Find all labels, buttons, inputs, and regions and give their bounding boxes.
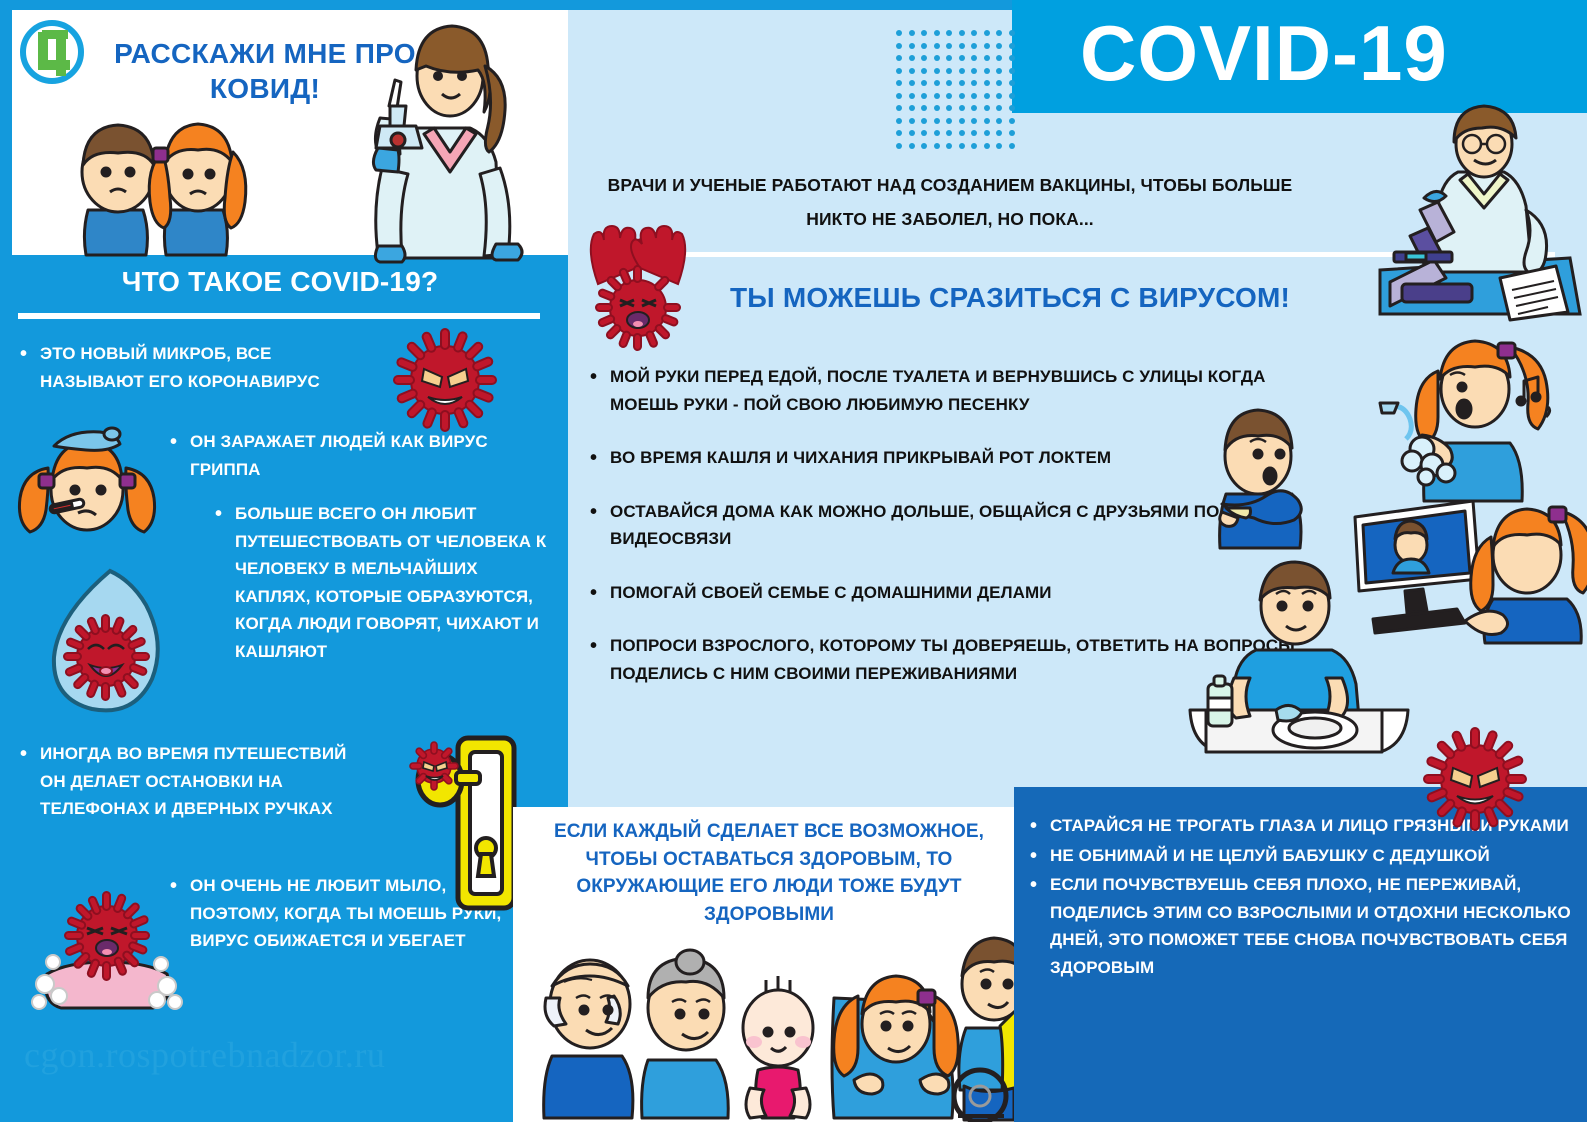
evil-virus-icon	[1418, 722, 1533, 837]
what-is-bullet-3-list: БОЛЬШЕ ВСЕГО ОН ЛЮБИТ ПУТЕШЕСТВОВАТЬ ОТ …	[213, 500, 553, 665]
what-is-bullet-4-list: ИНОГДА ВО ВРЕМЯ ПУТЕШЕСТВИЙ ОН ДЕЛАЕТ ОС…	[18, 740, 348, 823]
female-doctor-flask-icon	[350, 18, 560, 258]
girl-washing-hands-icon	[1370, 325, 1570, 505]
watermark: cgon.rospotrebnadzor.ru	[24, 1034, 494, 1076]
scientist-microscope-icon	[1380, 102, 1580, 317]
list-item: ИНОГДА ВО ВРЕМЯ ПУТЕШЕСТВИЙ ОН ДЕЛАЕТ ОС…	[18, 740, 348, 823]
family-group-icon	[528, 920, 1018, 1120]
list-item: БОЛЬШЕ ВСЕГО ОН ЛЮБИТ ПУТЕШЕСТВОВАТЬ ОТ …	[213, 500, 553, 665]
section-heading-fight-virus: ТЫ МОЖЕШЬ СРАЗИТЬСЯ С ВИРУСОМ!	[660, 282, 1360, 314]
virus-droplet-icon	[42, 565, 172, 715]
virus-soap-icon	[25, 878, 190, 1023]
what-is-bullet-2-list: ОН ЗАРАЖАЕТ ЛЮДЕЙ КАК ВИРУС ГРИППА	[168, 428, 548, 483]
covid-title: COVID-19	[1080, 14, 1580, 92]
sick-girl-thermometer-icon	[12, 418, 162, 553]
virus-cheering-icon	[578, 222, 698, 352]
list-item: ЭТО НОВЫЙ МИКРОБ, ВСЕ НАЗЫВАЮТ ЕГО КОРОН…	[18, 340, 348, 395]
angry-virus-icon	[390, 325, 500, 435]
list-item: НЕ ОБНИМАЙ И НЕ ЦЕЛУЙ БАБУШКУ С ДЕДУШКОЙ	[1028, 842, 1578, 870]
divider-rule	[18, 313, 540, 319]
section-heading-what-is-covid: ЧТО ТАКОЕ COVID-19?	[20, 266, 540, 298]
vaccine-lead-text: ВРАЧИ И УЧЕНЫЕ РАБОТАЮТ НАД СОЗДАНИЕМ ВА…	[600, 168, 1300, 236]
everyone-healthy-text: ЕСЛИ КАЖДЫЙ СДЕЛАЕТ ВСЕ ВОЗМОЖНОЕ, ЧТОБЫ…	[526, 818, 1012, 928]
dont-do-list: СТАРАЙСЯ НЕ ТРОГАТЬ ГЛАЗА И ЛИЦО ГРЯЗНЫМ…	[1028, 812, 1578, 983]
dot-pattern-decoration	[896, 30, 1018, 152]
boy-cough-elbow-icon	[1200, 408, 1330, 548]
list-item: ЕСЛИ ПОЧУВСТВУЕШЬ СЕБЯ ПЛОХО, НЕ ПЕРЕЖИВ…	[1028, 871, 1578, 981]
two-children-icon	[70, 110, 260, 255]
boy-washing-dishes-icon	[1180, 560, 1410, 775]
what-is-bullet-1-list: ЭТО НОВЫЙ МИКРОБ, ВСЕ НАЗЫВАЮТ ЕГО КОРОН…	[18, 340, 348, 395]
cgon-logo-icon	[16, 16, 88, 88]
list-item: ОН ЗАРАЖАЕТ ЛЮДЕЙ КАК ВИРУС ГРИППА	[168, 428, 548, 483]
